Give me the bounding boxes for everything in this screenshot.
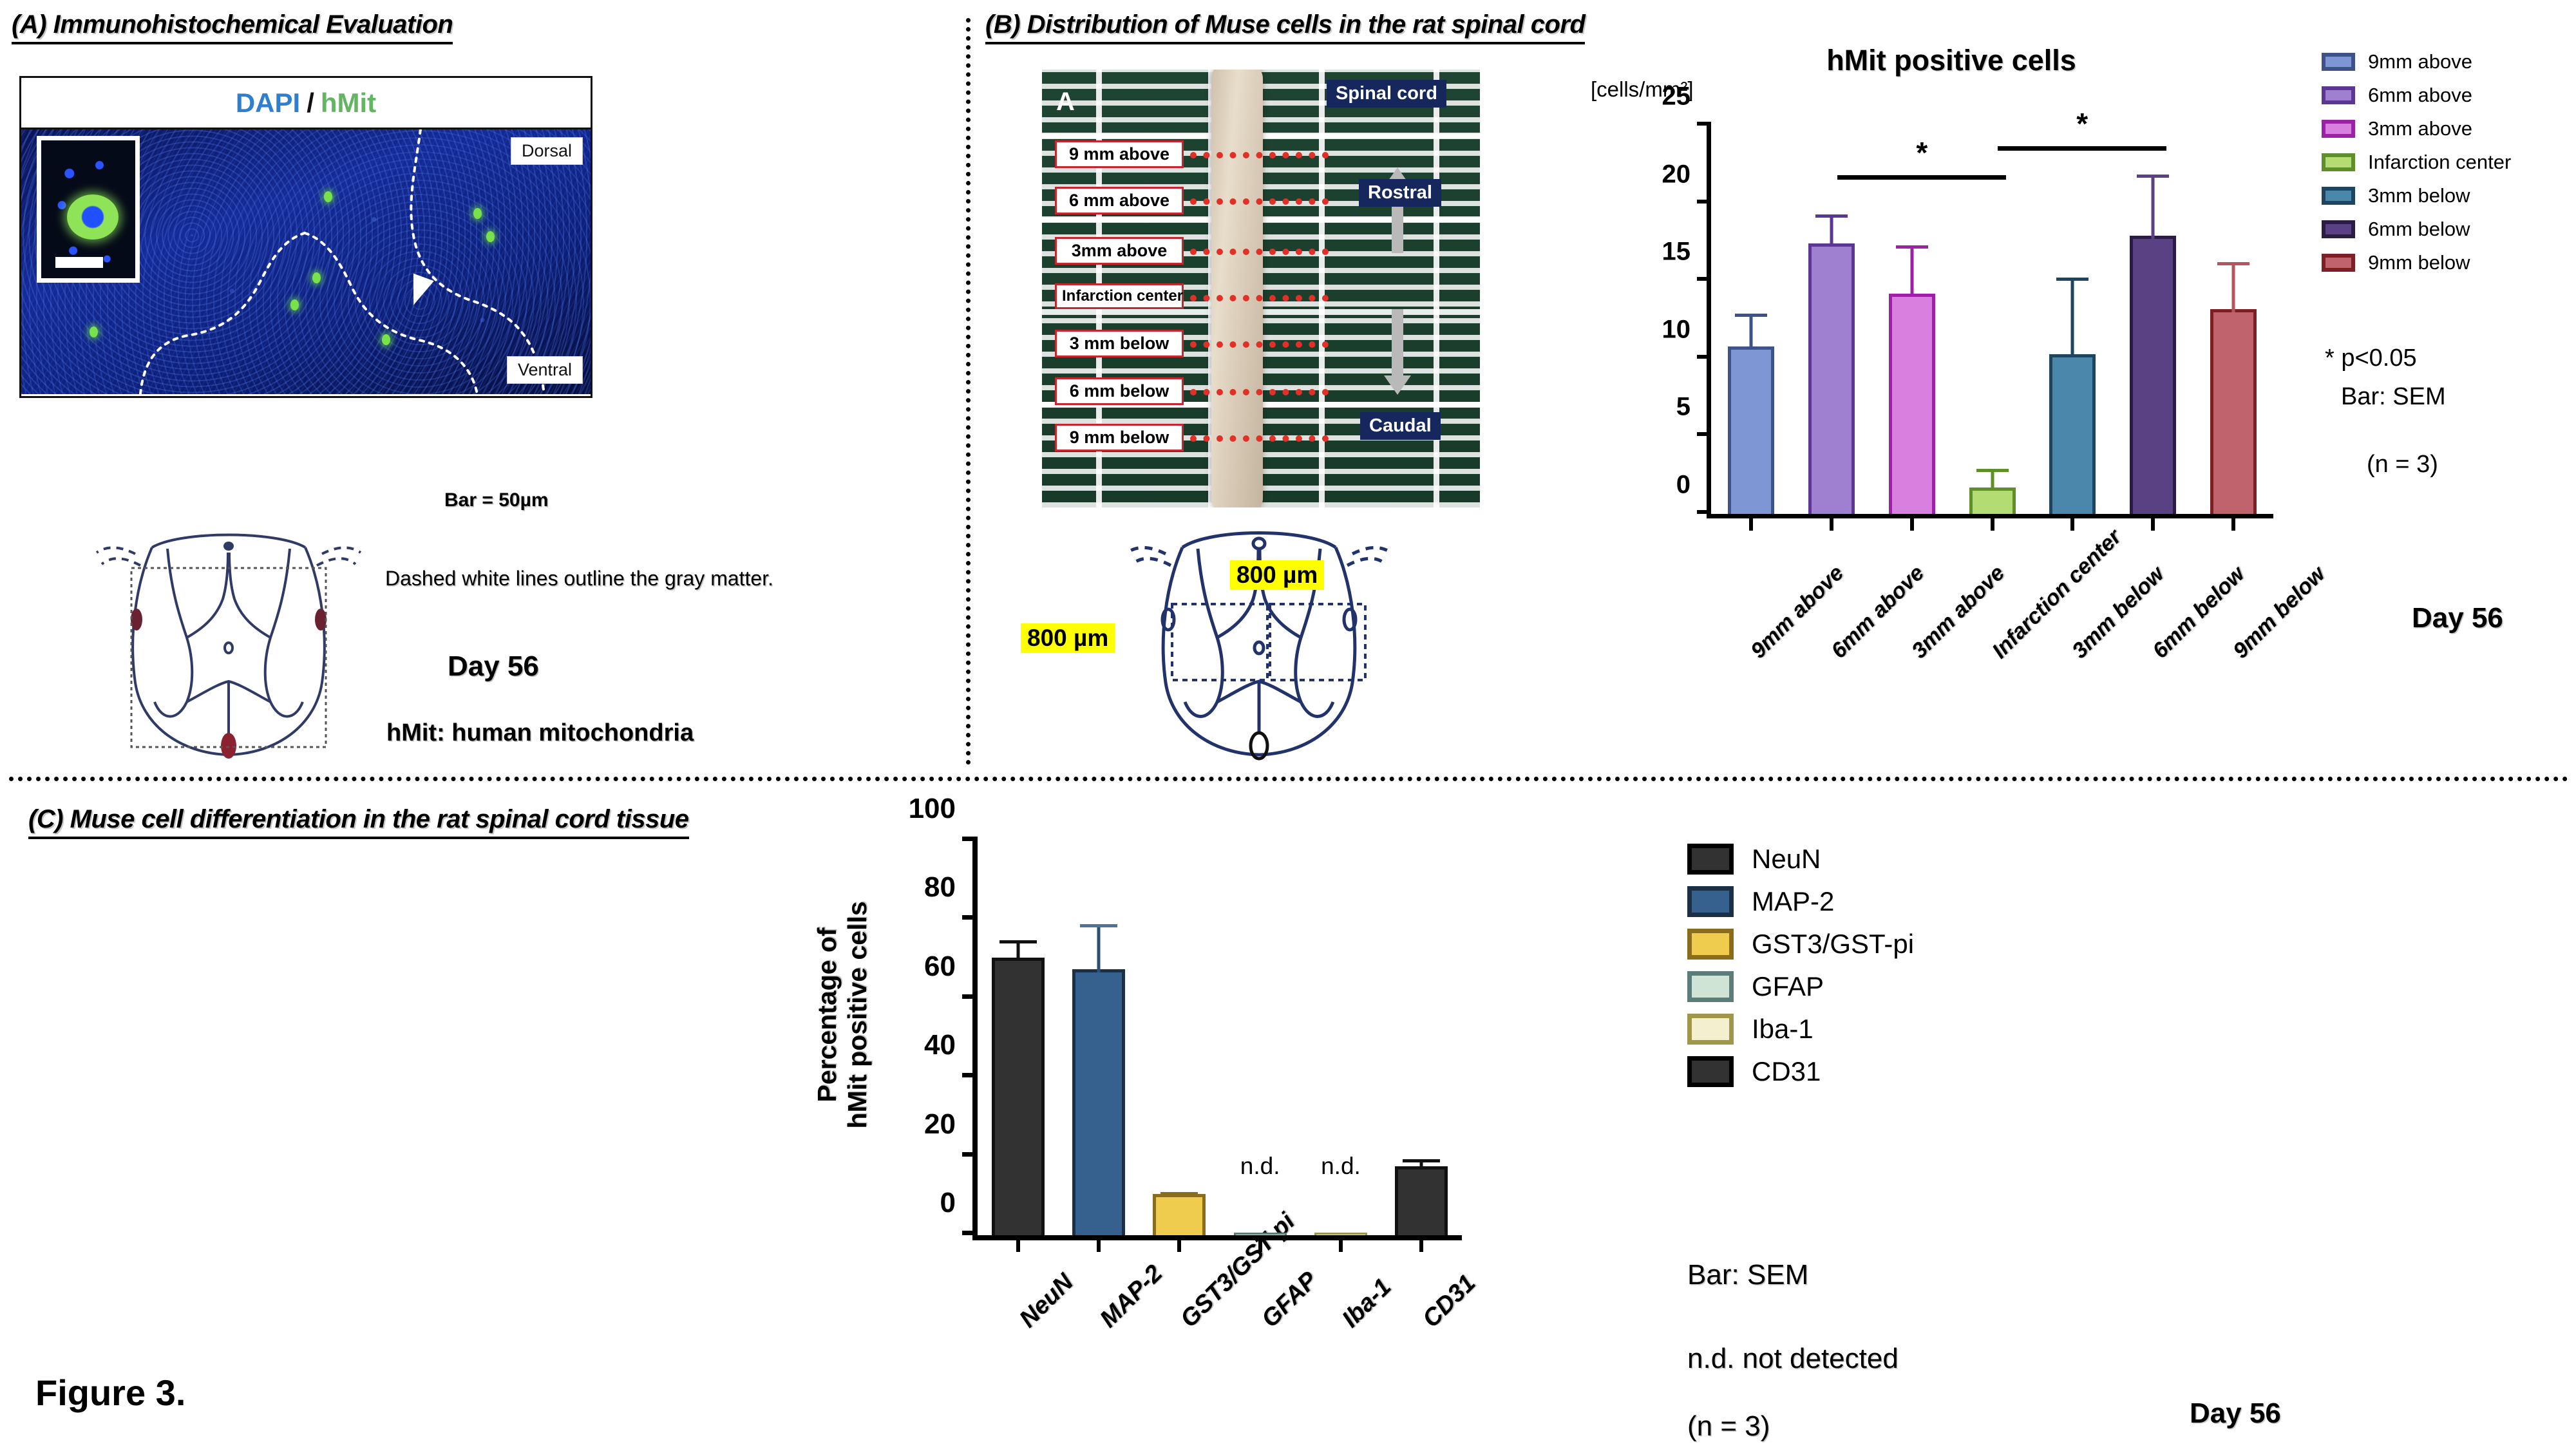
legend-label-gst3-gstpi: GST3/GST-pi xyxy=(1752,929,1914,960)
roi-box-right xyxy=(1270,604,1365,680)
bar-cd31 xyxy=(1395,1166,1448,1235)
legend-label-cd31: CD31 xyxy=(1752,1056,1821,1087)
legend-item: NeuN xyxy=(1687,844,2138,875)
chart-b-bars: 9mm above 6mm above 3mm ab xyxy=(1711,126,2273,514)
bar-slot: n.d. GFAP xyxy=(1220,841,1300,1235)
hmit-channel-label: hMit xyxy=(321,88,376,118)
bar-9mm-below xyxy=(2210,309,2257,514)
level-line-3mm-below xyxy=(1190,341,1329,348)
panel-a-immunohistochemical-evaluation: (A) Immunohistochemical Evaluation DAPI … xyxy=(0,0,966,773)
bar-slot: 9mm below xyxy=(2193,126,2273,514)
panel-b-heading: (B) Distribution of Muse cells in the ra… xyxy=(985,10,1585,44)
legend-item: 6mm above xyxy=(2322,84,2573,107)
legend-item: GST3/GST-pi xyxy=(1687,929,2138,960)
inset-hmit-cell xyxy=(67,194,118,240)
chart-b-title: hMit positive cells xyxy=(1584,44,2318,77)
panel-c-n-note: (n = 3) xyxy=(1687,1410,1770,1443)
level-line-9mm-above xyxy=(1190,152,1329,158)
chart-c-xlabel-1: MAP-2 xyxy=(1095,1260,1168,1334)
bar-map2 xyxy=(1072,969,1125,1235)
level-line-infarction-center xyxy=(1190,295,1329,301)
legend-swatch-neun xyxy=(1687,844,1734,875)
legend-item: 3mm below xyxy=(2322,184,2573,207)
legend-label-9mm-below: 9mm below xyxy=(2368,251,2470,274)
photo-corner-letter: A xyxy=(1056,88,1075,117)
chart-c-ytick-20: 20 xyxy=(924,1108,956,1141)
bar-3mm-below xyxy=(2049,354,2096,514)
panel-b-distribution-of-muse-cells: (B) Distribution of Muse cells in the ra… xyxy=(966,0,2576,773)
hmit-positive-cell-marker xyxy=(324,191,332,202)
hmit-positive-cell-marker xyxy=(382,334,390,345)
chart-c-plot-area: 0 20 40 60 80 100 NeuN xyxy=(972,841,1462,1240)
scale-bar-note: Bar = 50µm xyxy=(444,489,549,511)
ventral-label: Ventral xyxy=(507,356,583,384)
gray-matter-note: Dashed white lines outline the gray matt… xyxy=(385,567,773,591)
chart-b-plot-area: 0 5 10 15 20 25 * * xyxy=(1707,126,2273,518)
level-tag-9mm-below: 9 mm below xyxy=(1055,424,1184,451)
legend-label-iba1: Iba-1 xyxy=(1752,1014,1814,1045)
chart-c-ytick-40: 40 xyxy=(924,1029,956,1061)
legend-swatch-map2 xyxy=(1687,886,1734,917)
chart-c-xlabel-4: Iba-1 xyxy=(1337,1274,1397,1334)
chart-c-ytick-100: 100 xyxy=(909,793,956,825)
chart-c-ytick-80: 80 xyxy=(924,871,956,904)
level-line-9mm-below xyxy=(1190,435,1329,442)
chart-b-ytick-0: 0 xyxy=(1676,471,1690,500)
legend-item: CD31 xyxy=(1687,1056,2138,1087)
legend-label-6mm-above: 6mm above xyxy=(2368,84,2472,107)
panel-a-heading: (A) Immunohistochemical Evaluation xyxy=(12,10,453,44)
panel-c-sem-note: Bar: SEM xyxy=(1687,1259,1808,1291)
bar-infarction-center xyxy=(1969,488,2016,514)
legend-label-infarction-center: Infarction center xyxy=(2368,151,2511,174)
legend-label-9mm-above: 9mm above xyxy=(2368,50,2472,73)
legend-label-3mm-above: 3mm above xyxy=(2368,117,2472,140)
microscopy-caption: DAPI / hMit xyxy=(21,78,591,129)
bar-slot: n.d. Iba-1 xyxy=(1300,841,1381,1235)
dorsal-label: Dorsal xyxy=(511,137,583,165)
hmit-positive-cell-marker xyxy=(290,299,299,310)
bar-6mm-above xyxy=(1808,243,1855,514)
tag-spinal-cord: Spinal cord xyxy=(1327,80,1446,108)
bar-slot: NeuN xyxy=(978,841,1058,1235)
bar-slot: 3mm above xyxy=(1871,126,1952,514)
bar-3mm-above xyxy=(1889,294,1935,515)
scale-badge-vertical: 800 µm xyxy=(1021,623,1115,653)
legend-swatch-infarction-center xyxy=(2322,153,2355,171)
legend-swatch-gst3-gstpi xyxy=(1687,929,1734,960)
legend-swatch-3mm-above xyxy=(2322,120,2355,138)
figure-number: Figure 3. xyxy=(35,1372,185,1414)
legend-swatch-3mm-below xyxy=(2322,187,2355,205)
chart-b-ytick-20: 20 xyxy=(1662,160,1691,189)
hmit-positive-cell-marker xyxy=(90,327,98,337)
hmit-positive-cell-marker xyxy=(312,272,321,283)
caudal-arrow-icon xyxy=(1392,309,1403,377)
level-tag-6mm-above: 6 mm above xyxy=(1055,187,1184,214)
level-tag-6mm-below: 6 mm below xyxy=(1055,377,1184,405)
legend-item: MAP-2 xyxy=(1687,886,2138,917)
nd-label-gfap: n.d. xyxy=(1240,1153,1280,1180)
microscopy-image-panel: DAPI / hMit Dorsal Ventral xyxy=(19,76,592,398)
panel-b-pvalue-note: * p<0.05 xyxy=(2325,345,2417,372)
hmit-positive-cell-marker xyxy=(486,231,495,242)
bar-slot: Infarction center xyxy=(1952,126,2032,514)
legend-swatch-cd31 xyxy=(1687,1056,1734,1087)
chart-c-xlabel-3: GFAP xyxy=(1256,1267,1323,1334)
legend-label-gfap: GFAP xyxy=(1752,971,1824,1002)
panel-c-muse-cell-differentiation: (C) Muse cell differentiation in the rat… xyxy=(0,777,2576,1449)
channel-separator: / xyxy=(307,88,314,118)
legend-swatch-9mm-above xyxy=(2322,53,2355,71)
legend-item: 3mm above xyxy=(2322,117,2573,140)
tag-caudal: Caudal xyxy=(1360,412,1441,440)
scale-badge-horizontal: 800 µm xyxy=(1230,560,1324,590)
chart-c-ylabel: Percentage ofhMit positive cells xyxy=(812,901,873,1128)
chart-b-ytick-25: 25 xyxy=(1662,82,1691,111)
magnified-inset xyxy=(37,136,140,283)
bar-slot: GST3/GST-pi xyxy=(1139,841,1220,1235)
legend-item: Iba-1 xyxy=(1687,1014,2138,1045)
level-line-6mm-below xyxy=(1190,389,1329,395)
panel-c-heading: (C) Muse cell differentiation in the rat… xyxy=(28,805,689,839)
panel-a-day-label: Day 56 xyxy=(448,650,539,683)
muse-cell-differentiation-chart: Percentage ofhMit positive cells 0 20 40… xyxy=(837,802,1674,1401)
legend-item: 6mm below xyxy=(2322,218,2573,241)
panel-b-n-note: (n = 3) xyxy=(2367,451,2438,478)
legend-swatch-6mm-below xyxy=(2322,220,2355,238)
dapi-channel-label: DAPI xyxy=(236,88,300,118)
legend-label-6mm-below: 6mm below xyxy=(2368,218,2470,241)
level-line-6mm-above xyxy=(1190,198,1329,205)
bar-gst3-gstpi xyxy=(1153,1194,1206,1235)
bar-slot: MAP-2 xyxy=(1058,841,1139,1235)
chart-c-ytick-0: 0 xyxy=(940,1187,956,1219)
chart-b-ytick-15: 15 xyxy=(1662,238,1691,267)
bar-slot: CD31 xyxy=(1381,841,1462,1235)
hmit-definition-note: hMit: human mitochondria xyxy=(386,719,694,747)
panel-c-day-label: Day 56 xyxy=(2190,1397,2281,1430)
panel-b-sem-note: Bar: SEM xyxy=(2341,383,2446,411)
bar-slot: 6mm below xyxy=(2113,126,2193,514)
bar-slot: 3mm below xyxy=(2032,126,2113,514)
bar-neun xyxy=(992,958,1045,1235)
nd-label-iba1: n.d. xyxy=(1321,1153,1361,1180)
chart-b-ytick-10: 10 xyxy=(1662,315,1691,344)
hmit-positive-cell-marker xyxy=(473,208,482,219)
legend-swatch-gfap xyxy=(1687,971,1734,1002)
legend-label-map2: MAP-2 xyxy=(1752,886,1834,917)
legend-item: GFAP xyxy=(1687,971,2138,1002)
legend-swatch-6mm-above xyxy=(2322,86,2355,104)
inset-scale-bar xyxy=(55,257,103,268)
chart-c-ytick-60: 60 xyxy=(924,951,956,983)
legend-swatch-iba1 xyxy=(1687,1014,1734,1045)
spinal-cord-cross-section-diagram-a xyxy=(90,509,367,766)
fluorescence-micrograph: Dorsal Ventral xyxy=(21,129,591,394)
chart-c-legend: NeuN MAP-2 GST3/GST-pi GFAP Iba-1 CD31 xyxy=(1687,844,2138,1099)
hmit-positive-cells-chart: hMit positive cells [cells/mm²] 0 5 10 1… xyxy=(1584,26,2318,753)
chart-c-xlabel-5: CD31 xyxy=(1417,1270,1481,1334)
level-tag-3mm-above: 3mm above xyxy=(1055,237,1184,265)
legend-item: 9mm above xyxy=(2322,50,2573,73)
tag-rostral: Rostral xyxy=(1359,179,1441,207)
chart-c-xlabel-0: NeuN xyxy=(1014,1269,1079,1334)
legend-item: Infarction center xyxy=(2322,151,2573,174)
chart-c-bars: NeuN MAP-2 GST3/GST-pi xyxy=(978,841,1462,1235)
panel-c-nd-note: n.d. not detected xyxy=(1687,1343,1899,1375)
bar-9mm-above xyxy=(1728,346,1774,514)
bar-slot: 9mm above xyxy=(1711,126,1792,514)
legend-item: 9mm below xyxy=(2322,251,2573,274)
level-tag-3mm-below: 3 mm below xyxy=(1055,330,1184,357)
chart-b-legend: 9mm above 6mm above 3mm above Infarction… xyxy=(2322,50,2573,285)
panel-b-day-label: Day 56 xyxy=(2412,602,2503,634)
legend-swatch-9mm-below xyxy=(2322,254,2355,272)
spinal-cord-specimen xyxy=(1211,70,1263,507)
legend-label-3mm-below: 3mm below xyxy=(2368,184,2470,207)
bar-6mm-below xyxy=(2130,236,2176,514)
legend-label-neun: NeuN xyxy=(1752,844,1821,875)
bar-slot: 6mm above xyxy=(1792,126,1872,514)
level-tag-9mm-above: 9 mm above xyxy=(1055,140,1184,168)
level-line-3mm-above xyxy=(1190,249,1329,255)
chart-b-ytick-5: 5 xyxy=(1676,393,1690,422)
level-tag-infarction-center: Infarction center xyxy=(1055,283,1184,309)
